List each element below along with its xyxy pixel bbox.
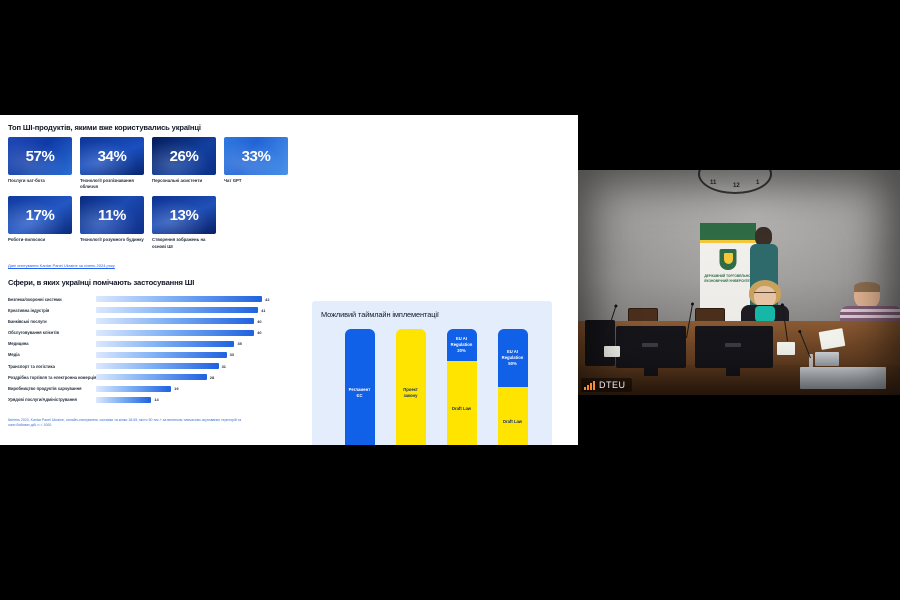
bar-fill <box>96 330 254 336</box>
bar-value-label: 33 <box>230 352 234 357</box>
product-tile-label: Роботи-пилососи <box>8 237 72 243</box>
monitor-stand <box>644 368 658 376</box>
laptop <box>800 367 886 389</box>
clock-numeral: 1 <box>756 180 759 186</box>
timeline-segment-label: Draft Law <box>451 406 472 412</box>
product-tile-percent: 57% <box>26 148 55 165</box>
product-tile: 33% Чат GPT <box>224 137 288 190</box>
banner-stripe <box>700 240 756 243</box>
bar-category-label: Виробництво продуктів харчування <box>8 386 96 391</box>
bar-track: 41 <box>96 307 278 313</box>
product-tile: 34% Технології розпізнавання обличчя <box>80 137 144 190</box>
product-tile-percent: 33% <box>242 148 271 165</box>
monitor-badge <box>642 343 658 347</box>
bar-chart-row: Обслуговування клієнтів40 <box>8 329 278 337</box>
chart-footnote: Квітень 2023, Kantar Panel Ukraine, онла… <box>8 418 248 429</box>
bar-fill <box>96 341 234 347</box>
product-tile-percent: 11% <box>98 207 126 224</box>
product-tile-label: Персональні асистенти <box>152 178 216 184</box>
signal-bars-icon <box>584 381 595 390</box>
bar-chart-row: Роздрібна торгівля та електронна комерці… <box>8 373 278 381</box>
presentation-slide: Топ ШІ-продуктів, якими вже користувалис… <box>0 115 578 445</box>
product-tile: 57% Послуги чат-бота <box>8 137 72 190</box>
timeline-bar: Регламент ЄС <box>345 329 375 445</box>
screen-root: Топ ШІ-продуктів, якими вже користувалис… <box>0 0 900 600</box>
bar-chart-row: Урядові послуги/Адміністрування14 <box>8 396 278 404</box>
bar-track: 42 <box>96 296 278 302</box>
monitor-stand <box>726 368 740 376</box>
bar-value-label: 40 <box>257 319 261 324</box>
clock-numeral: 12 <box>733 183 740 189</box>
product-tile-image: 57% <box>8 137 72 175</box>
bar-track: 33 <box>96 352 278 358</box>
timeline-segment-yellow: Draft Law <box>498 387 528 445</box>
product-tile-image: 34% <box>80 137 144 175</box>
monitor-badge <box>725 343 741 347</box>
product-tile-image: 13% <box>152 196 216 234</box>
product-tiles: 57% Послуги чат-бота 34% Технології розп… <box>8 137 298 250</box>
product-tile: 26% Персональні асистенти <box>152 137 216 190</box>
bar-chart-title: Сфери, в яких українці помічають застосу… <box>8 278 194 287</box>
bar-value-label: 41 <box>261 308 265 313</box>
timeline-column: EU AI Regulation 50%Draft Law <box>498 329 528 445</box>
bar-fill <box>96 352 227 358</box>
bar-chart-row: Транспорт та логістика31 <box>8 362 278 370</box>
product-tile-percent: 17% <box>26 207 55 224</box>
product-tile-percent: 26% <box>170 148 199 165</box>
bar-track: 35 <box>96 341 278 347</box>
product-tiles-row-2: 17% Роботи-пилососи 11% Технології розум… <box>8 196 298 249</box>
microphone-head <box>798 330 802 334</box>
timeline-card: Можливий таймлайн імплементації Регламен… <box>312 301 552 445</box>
timeline-column: EU AI Regulation 20%Draft Law <box>447 329 477 445</box>
timeline-segment-label: Регламент ЄС <box>345 387 375 398</box>
bar-category-label: Урядові послуги/Адміністрування <box>8 397 96 402</box>
paper-sheet <box>777 342 795 355</box>
bar-value-label: 42 <box>265 297 269 302</box>
tablet-device <box>815 352 839 366</box>
bar-track: 40 <box>96 318 278 324</box>
bar-fill <box>96 386 171 392</box>
bar-chart-row: Креативна індустрія41 <box>8 306 278 314</box>
bar-category-label: Роздрібна торгівля та електронна комерці… <box>8 375 96 380</box>
timeline-plot: Регламент ЄСПроект законуEU AI Regulatio… <box>334 329 538 445</box>
product-tile-label: Послуги чат-бота <box>8 178 72 184</box>
products-section-title: Топ ШІ-продуктів, якими вже користувалис… <box>8 123 201 132</box>
bar-track: 14 <box>96 397 278 403</box>
bar-fill <box>96 397 151 403</box>
source-link[interactable]: Дані опитування Kantar Panel Ukraine за … <box>8 263 115 268</box>
product-tile-label: Чат GPT <box>224 178 288 184</box>
bar-value-label: 40 <box>257 330 261 335</box>
timeline-segment-blue: EU AI Regulation 50% <box>498 329 528 387</box>
product-tile-image: 11% <box>80 196 144 234</box>
bar-category-label: Медіа <box>8 352 96 357</box>
clock-numeral: 11 <box>710 180 716 186</box>
timeline-bar: Проект закону <box>396 329 426 445</box>
bar-track: 28 <box>96 374 278 380</box>
bar-track: 40 <box>96 330 278 336</box>
bar-fill <box>96 318 254 324</box>
timeline-segment-label: Проект закону <box>396 387 426 398</box>
bar-category-label: Креативна індустрія <box>8 308 96 313</box>
bar-fill <box>96 374 207 380</box>
stream-watermark: DTEU <box>581 378 632 392</box>
watermark-label: DTEU <box>599 380 626 390</box>
monitor <box>695 326 773 368</box>
bar-value-label: 31 <box>222 364 226 369</box>
product-tile-label: Створення зображень на основі ШІ <box>152 237 216 249</box>
timeline-title: Можливий таймлайн імплементації <box>321 310 439 319</box>
timeline-segment-label: EU AI Regulation 50% <box>498 349 528 366</box>
bar-chart-row: Безпека/охоронні системи42 <box>8 295 278 303</box>
timeline-segment-blue: Регламент ЄС <box>345 329 375 445</box>
bar-category-label: Обслуговування клієнтів <box>8 330 96 335</box>
person-scarf <box>755 306 775 322</box>
bar-chart-row: Банківські послуги40 <box>8 317 278 325</box>
bar-fill <box>96 363 219 369</box>
product-tile: 13% Створення зображень на основі ШІ <box>152 196 216 249</box>
product-tile: 17% Роботи-пилососи <box>8 196 72 249</box>
paper-sheet <box>604 346 620 357</box>
bar-track: 19 <box>96 386 278 392</box>
bar-track: 31 <box>96 363 278 369</box>
bar-category-label: Транспорт та логістика <box>8 364 96 369</box>
bar-category-label: Банківські послуги <box>8 319 96 324</box>
timeline-segment-blue: EU AI Regulation 20% <box>447 329 477 361</box>
monitor <box>585 320 615 366</box>
bar-chart-row: Медіа33 <box>8 351 278 359</box>
product-tile-label: Технології розпізнавання обличчя <box>80 178 144 190</box>
product-tile-percent: 34% <box>98 148 127 165</box>
product-tile-percent: 13% <box>170 207 199 224</box>
banner-header-band <box>700 223 756 240</box>
bar-category-label: Безпека/охоронні системи <box>8 297 96 302</box>
bar-fill <box>96 296 262 302</box>
bar-chart-row: Медицина35 <box>8 340 278 348</box>
bar-fill <box>96 307 258 313</box>
product-tile: 11% Технології розумного будинку <box>80 196 144 249</box>
video-feed[interactable]: 11 12 1 ДЕРЖАВНИЙ ТОРГОВЕЛЬНО-ЕКОНОМІЧНИ… <box>578 170 900 395</box>
monitor <box>616 326 686 368</box>
timeline-segment-label: EU AI Regulation 20% <box>447 336 477 353</box>
bar-value-label: 35 <box>237 341 241 346</box>
product-tile-image: 17% <box>8 196 72 234</box>
bar-chart-row: Виробництво продуктів харчування19 <box>8 385 278 393</box>
university-crest-icon <box>720 249 737 270</box>
person-hair <box>854 282 880 292</box>
product-tile-image: 26% <box>152 137 216 175</box>
timeline-column: Проект закону <box>396 329 426 445</box>
timeline-bar: EU AI Regulation 20%Draft Law <box>447 329 477 445</box>
timeline-segment-yellow: Draft Law <box>447 361 477 445</box>
bar-value-label: 14 <box>154 397 158 402</box>
timeline-bar: EU AI Regulation 50%Draft Law <box>498 329 528 445</box>
timeline-column: Регламент ЄС <box>345 329 375 445</box>
timeline-segment-yellow: Проект закону <box>396 329 426 445</box>
bar-value-label: 28 <box>210 375 214 380</box>
glasses-icon <box>754 292 776 297</box>
timeline-segment-label: Draft Law <box>502 419 523 425</box>
bar-category-label: Медицина <box>8 341 96 346</box>
bar-chart: Безпека/охоронні системи42Креативна інду… <box>8 295 278 407</box>
product-tiles-row-1: 57% Послуги чат-бота 34% Технології розп… <box>8 137 298 190</box>
bar-value-label: 19 <box>174 386 178 391</box>
product-tile-label: Технології розумного будинку <box>80 237 144 243</box>
product-tile-image: 33% <box>224 137 288 175</box>
